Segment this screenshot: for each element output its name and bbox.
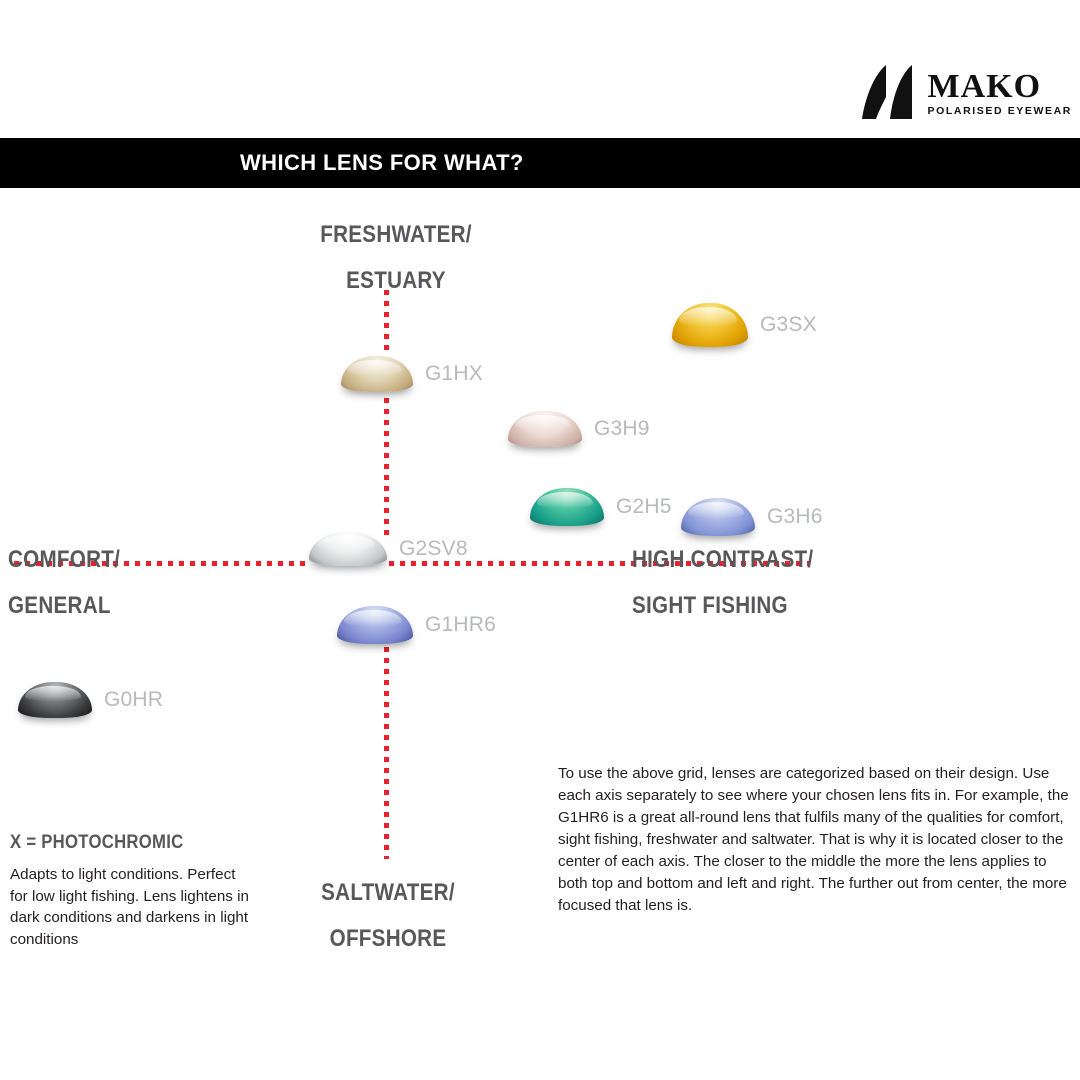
lens-swatch-g3h9 [508, 411, 582, 447]
title-banner [0, 138, 1080, 188]
lens-label-g3h6: G3H6 [767, 505, 823, 529]
lens-label-g3h9: G3H9 [594, 417, 650, 441]
legend-title: X = PHOTOCHROMIC [10, 832, 221, 854]
lens-swatch-g2sv8 [309, 532, 387, 566]
brand-tagline: POLARISED EYEWEAR [928, 106, 1072, 117]
vertical-axis-mid [384, 398, 389, 540]
lens-marker-g3sx[interactable]: G3SX [672, 303, 817, 347]
explanation-paragraph: To use the above grid, lenses are catego… [558, 763, 1070, 917]
lens-label-g1hx: G1HX [425, 362, 483, 386]
lens-selection-infographic: MAKO POLARISED EYEWEAR WHICH LENS FOR WH… [0, 0, 1080, 1080]
axis-label-top: FRESHWATER/ ESTUARY [258, 212, 533, 303]
lens-marker-g2sv8[interactable]: G2SV8 [309, 532, 468, 566]
lens-marker-g3h6[interactable]: G3H6 [681, 498, 823, 536]
lens-swatch-g3h6 [681, 498, 755, 536]
axis-label-right-line2: SIGHT FISHING [632, 583, 916, 629]
axis-label-right-line1: HIGH CONTRAST/ [632, 546, 813, 573]
lens-label-g2sv8: G2SV8 [399, 537, 468, 561]
lens-marker-g1hr6[interactable]: G1HR6 [337, 606, 496, 644]
axis-label-left-line2: GENERAL [8, 583, 214, 629]
lens-swatch-g2h5 [530, 488, 604, 526]
lens-marker-g2h5[interactable]: G2H5 [530, 488, 672, 526]
lens-swatch-g0hr [18, 682, 92, 718]
vertical-axis-lower [384, 647, 389, 859]
mako-logo: MAKO POLARISED EYEWEAR [832, 58, 1072, 128]
axis-label-bottom-line1: SALTWATER/ [321, 879, 455, 906]
axis-label-bottom-line2: OFFSHORE [250, 916, 525, 962]
shark-fin-icon [860, 63, 922, 123]
lens-marker-g3h9[interactable]: G3H9 [508, 411, 650, 447]
axis-label-left-line1: COMFORT/ [8, 546, 120, 573]
lens-swatch-g1hx [341, 356, 413, 392]
brand-name: MAKO [928, 70, 1042, 104]
axis-label-top-line2: ESTUARY [258, 258, 533, 304]
page-title: WHICH LENS FOR WHAT? [240, 150, 524, 176]
axis-label-top-line1: FRESHWATER/ [320, 221, 472, 248]
axis-label-right: HIGH CONTRAST/ SIGHT FISHING [632, 537, 916, 628]
lens-marker-g0hr[interactable]: G0HR [18, 682, 163, 718]
lens-marker-g1hx[interactable]: G1HX [341, 356, 483, 392]
legend-body: Adapts to light conditions. Perfect for … [10, 864, 250, 950]
lens-label-g3sx: G3SX [760, 313, 817, 337]
axis-label-left: COMFORT/ GENERAL [8, 537, 214, 628]
lens-label-g0hr: G0HR [104, 688, 163, 712]
lens-swatch-g1hr6 [337, 606, 413, 644]
axis-label-bottom: SALTWATER/ OFFSHORE [250, 870, 525, 961]
lens-swatch-g3sx [672, 303, 748, 347]
lens-label-g2h5: G2H5 [616, 495, 672, 519]
photochromic-legend: X = PHOTOCHROMIC Adapts to light conditi… [10, 832, 250, 950]
lens-label-g1hr6: G1HR6 [425, 613, 496, 637]
